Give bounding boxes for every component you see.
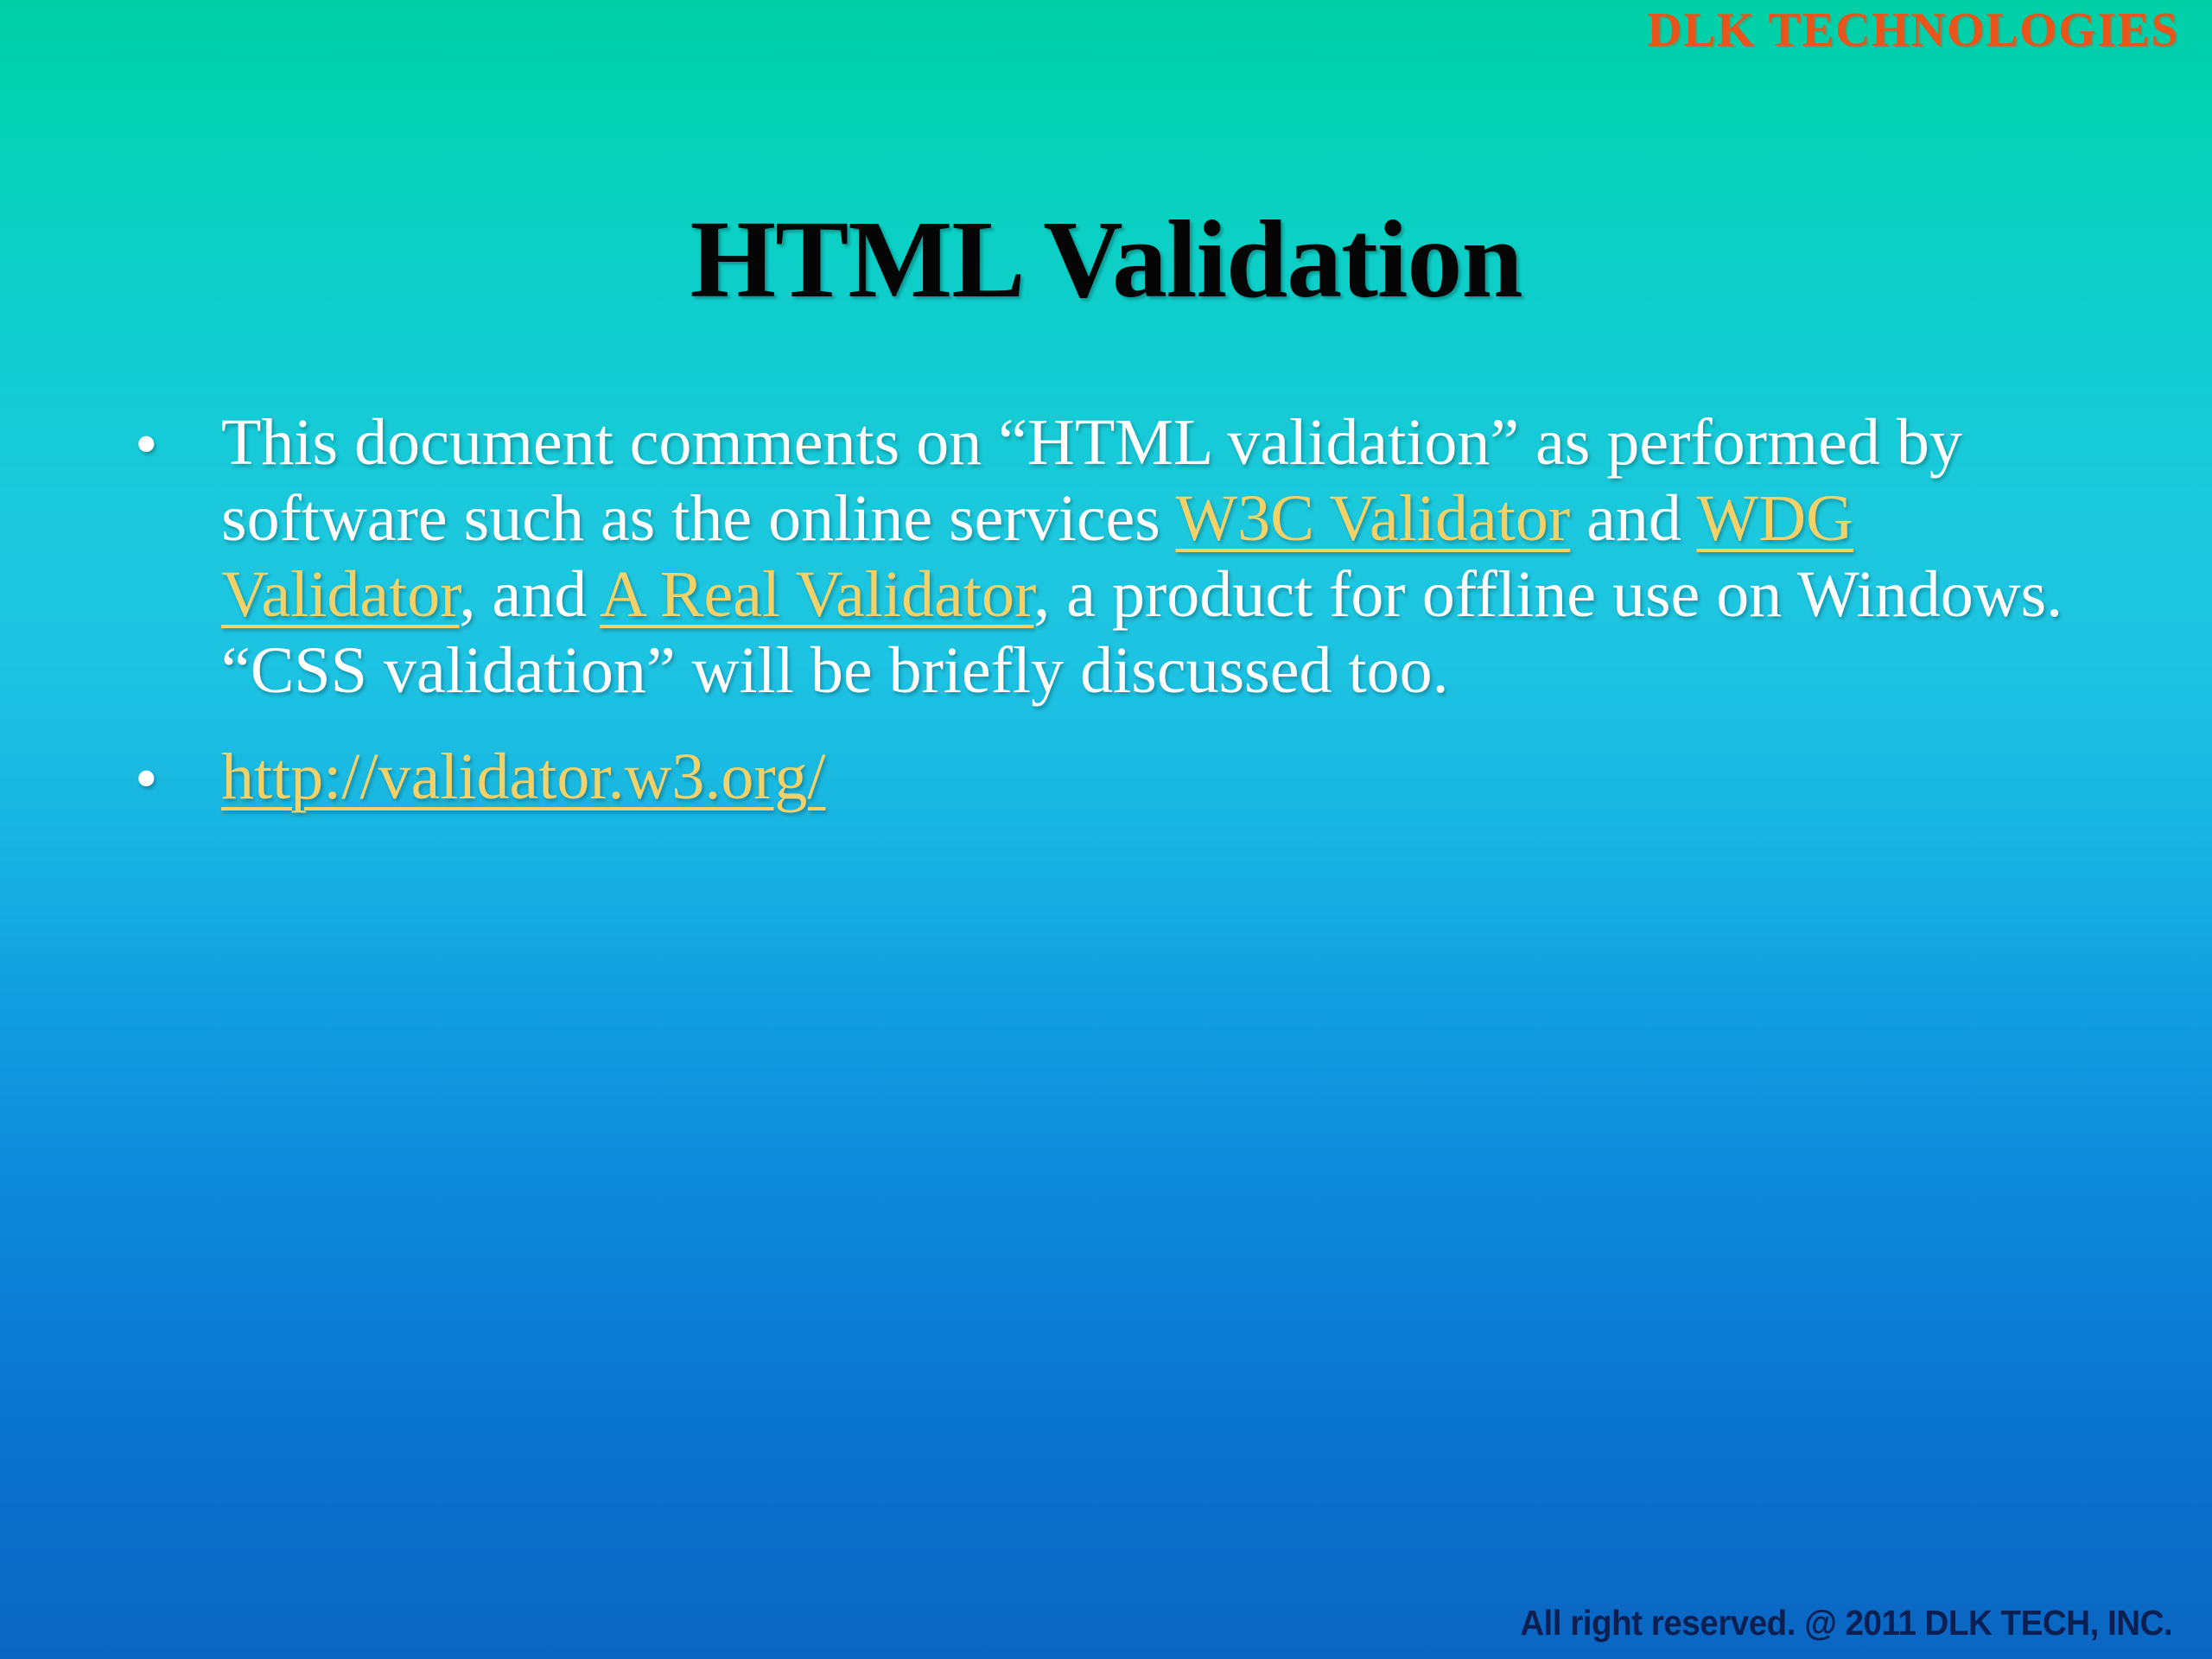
bullet-1-text: This document comments on “HTML validati… <box>221 406 2063 707</box>
hyperlink[interactable]: W3C Validator <box>1176 482 1571 555</box>
bullet-marker-icon: • <box>135 741 158 817</box>
copyright-footer: All right reserved. @ 2011 DLK TECH, INC… <box>1520 1603 2172 1643</box>
slide-body: • This document comments on “HTML valida… <box>114 404 2101 834</box>
bullet-marker-icon: • <box>135 406 158 482</box>
slide-canvas: DLK TECHNOLOGIES HTML Validation • This … <box>0 0 2212 1659</box>
body-text-run: and <box>1570 482 1696 555</box>
page-title: HTML Validation <box>0 204 2212 315</box>
hyperlink[interactable]: http://validator.w3.org/ <box>221 741 825 813</box>
hyperlink[interactable]: A Real Validator <box>600 558 1033 631</box>
list-item: • http://validator.w3.org/ <box>114 739 2101 815</box>
bullet-2-text: http://validator.w3.org/ <box>221 741 825 813</box>
list-item: • This document comments on “HTML valida… <box>114 404 2101 709</box>
company-brand-header: DLK TECHNOLOGIES <box>1647 5 2179 56</box>
body-text-run: , and <box>460 558 601 631</box>
